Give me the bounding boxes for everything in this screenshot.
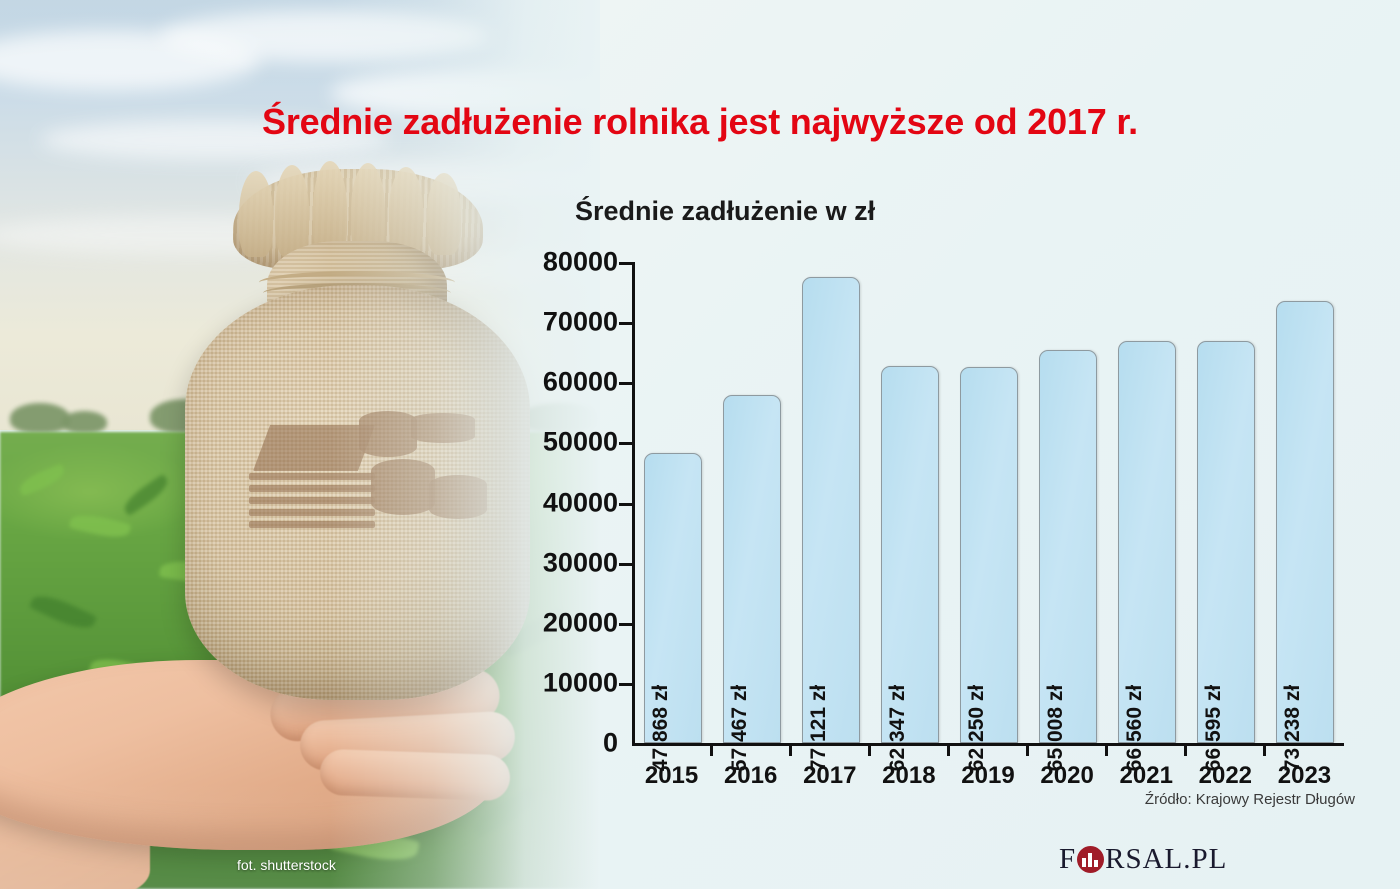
bar-2021[interactable]: 66 560 zł (1118, 341, 1176, 743)
x-tick-label-2019: 2019 (961, 762, 1014, 790)
x-tick (1026, 743, 1029, 756)
bar-value-label: 73 238 zł (1281, 685, 1305, 771)
bar-chart: 47 868 zł57 467 zł77 121 zł62 347 zł62 2… (632, 262, 1344, 746)
x-tick-label-2016: 2016 (724, 762, 777, 790)
logo-suffix: RSAL.PL (1105, 843, 1227, 876)
bar-value-label: 62 347 zł (886, 685, 910, 771)
y-tick-label: 50000 (543, 427, 618, 458)
page-title: Średnie zadłużenie rolnika jest najwyższ… (0, 101, 1400, 143)
photo-credit: fot. shutterstock (237, 857, 336, 873)
y-tick-label: 40000 (543, 487, 618, 518)
x-tick-label-2023: 2023 (1278, 762, 1331, 790)
logo-prefix: F (1059, 843, 1076, 876)
x-tick-label-2017: 2017 (803, 762, 856, 790)
y-axis-labels: 8000070000600005000040000300002000010000… (540, 262, 618, 746)
x-tick (1184, 743, 1187, 756)
x-tick-label-2018: 2018 (882, 762, 935, 790)
bar-2017[interactable]: 77 121 zł (802, 277, 860, 743)
bar-value-label: 62 250 zł (965, 685, 989, 771)
bar-2020[interactable]: 65 008 zł (1039, 350, 1097, 743)
y-axis-line (632, 262, 635, 746)
x-tick-label-2015: 2015 (645, 762, 698, 790)
bar-2015[interactable]: 47 868 zł (644, 453, 702, 743)
bar-2016[interactable]: 57 467 zł (723, 395, 781, 743)
y-tick (619, 442, 632, 445)
y-tick (619, 563, 632, 566)
y-tick-label: 30000 (543, 547, 618, 578)
y-tick (619, 503, 632, 506)
y-tick (619, 683, 632, 686)
bar-2023[interactable]: 73 238 zł (1276, 301, 1334, 743)
bar-chart-o-icon (1077, 846, 1104, 873)
bar-value-label: 66 595 zł (1202, 685, 1226, 771)
x-tick (710, 743, 713, 756)
y-tick (619, 322, 632, 325)
bar-value-label: 66 560 zł (1123, 685, 1147, 771)
source-note: Źródło: Krajowy Rejestr Długów (1145, 791, 1355, 808)
y-tick-label: 20000 (543, 607, 618, 638)
y-tick (619, 623, 632, 626)
infographic-canvas: Średnie zadłużenie rolnika jest najwyższ… (0, 0, 1400, 889)
forsal-logo[interactable]: F RSAL.PL (1059, 838, 1229, 880)
y-tick-label: 60000 (543, 367, 618, 398)
x-tick-label-2020: 2020 (1040, 762, 1093, 790)
bar-value-label: 47 868 zł (649, 685, 673, 771)
x-tick (868, 743, 871, 756)
x-tick (789, 743, 792, 756)
bar-2022[interactable]: 66 595 zł (1197, 341, 1255, 743)
x-tick-label-2021: 2021 (1120, 762, 1173, 790)
y-tick-label: 10000 (543, 667, 618, 698)
x-tick (947, 743, 950, 756)
y-tick-label: 0 (603, 728, 618, 759)
x-tick (1105, 743, 1108, 756)
y-tick (619, 382, 632, 385)
y-tick (619, 262, 632, 265)
bar-value-label: 65 008 zł (1044, 685, 1068, 771)
y-tick-label: 70000 (543, 307, 618, 338)
x-tick-label-2022: 2022 (1199, 762, 1252, 790)
bar-value-label: 77 121 zł (807, 685, 831, 771)
bar-2019[interactable]: 62 250 zł (960, 367, 1018, 743)
y-tick-label: 80000 (543, 247, 618, 278)
chart-title: Średnie zadłużenie w zł (575, 196, 875, 227)
x-tick (1263, 743, 1266, 756)
bar-2018[interactable]: 62 347 zł (881, 366, 939, 743)
bar-value-label: 57 467 zł (728, 685, 752, 771)
